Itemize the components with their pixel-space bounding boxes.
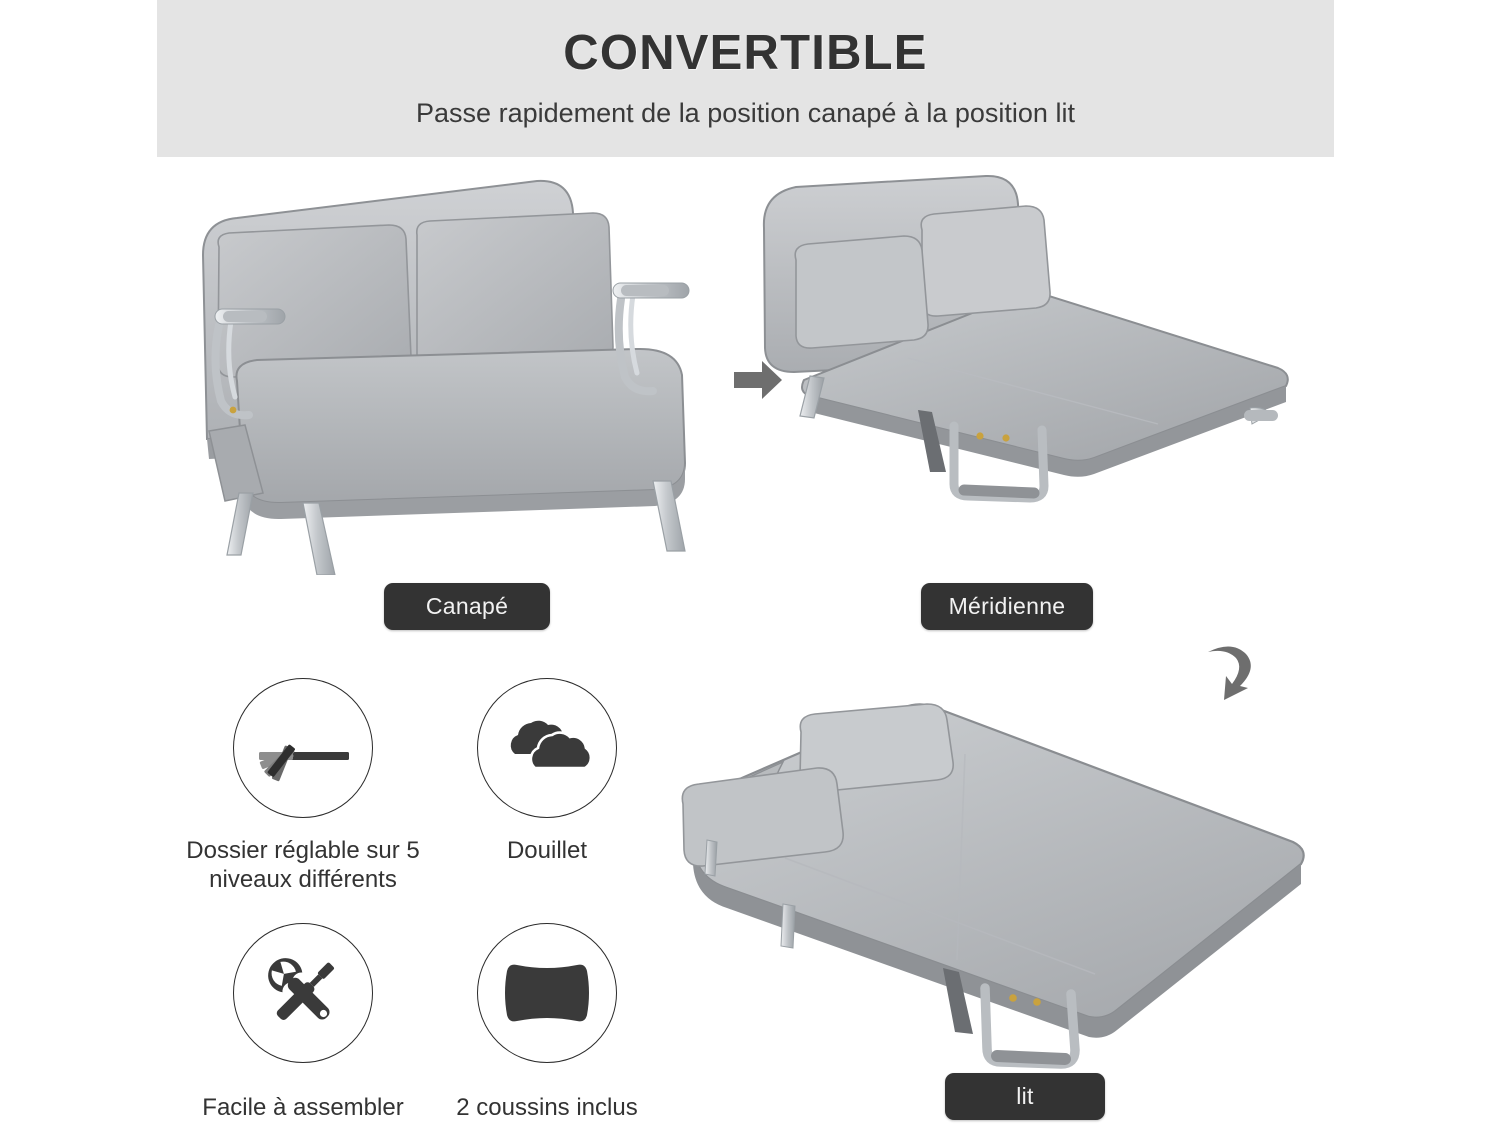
- feature-icon-circle: [477, 678, 617, 818]
- feature-caption: 2 coussins inclus: [456, 1093, 637, 1122]
- chaise-illustration: [758, 172, 1303, 517]
- mode-label-chaise: Méridienne: [921, 583, 1093, 630]
- mode-label-bed: lit: [945, 1073, 1105, 1120]
- page-title: CONVERTIBLE: [563, 28, 927, 79]
- mode-label-sofa: Canapé: [384, 583, 550, 630]
- feature-icon-circle: [233, 923, 373, 1063]
- header-band: CONVERTIBLE Passe rapidement de la posit…: [157, 0, 1334, 157]
- recline-levels-icon: [251, 696, 355, 800]
- clouds-icon: [495, 696, 599, 800]
- feature-caption: Facile à assembler: [202, 1093, 403, 1122]
- feature-item-cosy: Douillet: [429, 678, 665, 865]
- sofa-illustration: [185, 163, 725, 575]
- feature-item-pillows: 2 coussins inclus: [429, 923, 665, 1122]
- feature-item-recline: Dossier réglable sur 5 niveaux différent…: [185, 678, 421, 895]
- product-image-bed: [665, 692, 1320, 1072]
- tools-icon: [253, 943, 353, 1043]
- bed-illustration: [665, 692, 1320, 1072]
- feature-caption: Douillet: [507, 836, 587, 865]
- product-image-sofa: [185, 163, 725, 575]
- feature-icon-circle: [477, 923, 617, 1063]
- pillow-icon: [495, 941, 599, 1045]
- product-image-chaise: [758, 172, 1303, 517]
- arrow-right-icon: [732, 358, 784, 402]
- feature-icon-circle: [233, 678, 373, 818]
- page-subtitle: Passe rapidement de la position canapé à…: [416, 97, 1075, 129]
- arrow-curved-down-icon: [1202, 638, 1260, 702]
- feature-item-assembly: Facile à assembler: [185, 923, 421, 1122]
- feature-grid: Dossier réglable sur 5 niveaux différent…: [185, 678, 665, 1125]
- feature-caption: Dossier réglable sur 5 niveaux différent…: [186, 836, 419, 895]
